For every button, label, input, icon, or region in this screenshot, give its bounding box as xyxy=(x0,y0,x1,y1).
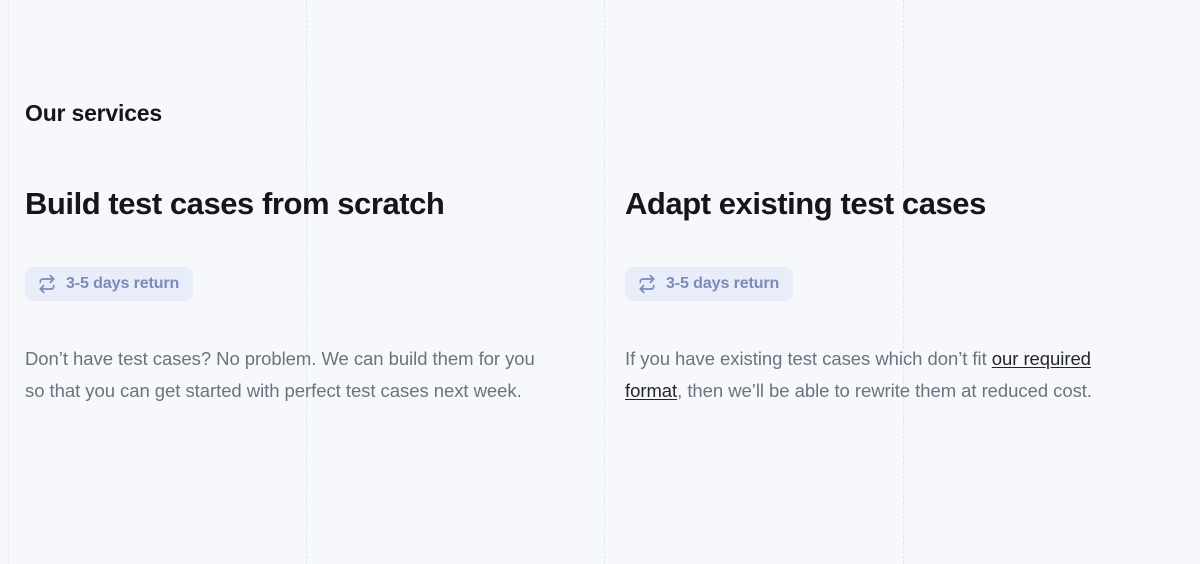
repeat-icon xyxy=(37,274,57,294)
section-label: Our services xyxy=(25,100,162,128)
service-card-adapt-test-cases: Adapt existing test cases 3-5 days retur… xyxy=(600,186,1200,407)
service-badge-return-time: 3-5 days return xyxy=(625,267,793,301)
service-description-text-after-link: , then we’ll be able to rewrite them at … xyxy=(677,380,1092,401)
service-card-build-test-cases: Build test cases from scratch 3-5 days r… xyxy=(0,186,600,407)
service-description-text: Don’t have test cases? No problem. We ca… xyxy=(25,348,535,401)
services-columns: Build test cases from scratch 3-5 days r… xyxy=(0,186,1200,407)
service-badge-label: 3-5 days return xyxy=(66,276,179,292)
service-description: If you have existing test cases which do… xyxy=(625,343,1140,407)
repeat-icon xyxy=(637,274,657,294)
service-title: Adapt existing test cases xyxy=(625,186,1140,223)
service-badge-return-time: 3-5 days return xyxy=(25,267,193,301)
service-description: Don’t have test cases? No problem. We ca… xyxy=(25,343,540,407)
service-title: Build test cases from scratch xyxy=(25,186,540,223)
service-badge-label: 3-5 days return xyxy=(666,276,779,292)
services-section: Our services Build test cases from scrat… xyxy=(0,0,1200,564)
service-description-text-before-link: If you have existing test cases which do… xyxy=(625,348,992,369)
